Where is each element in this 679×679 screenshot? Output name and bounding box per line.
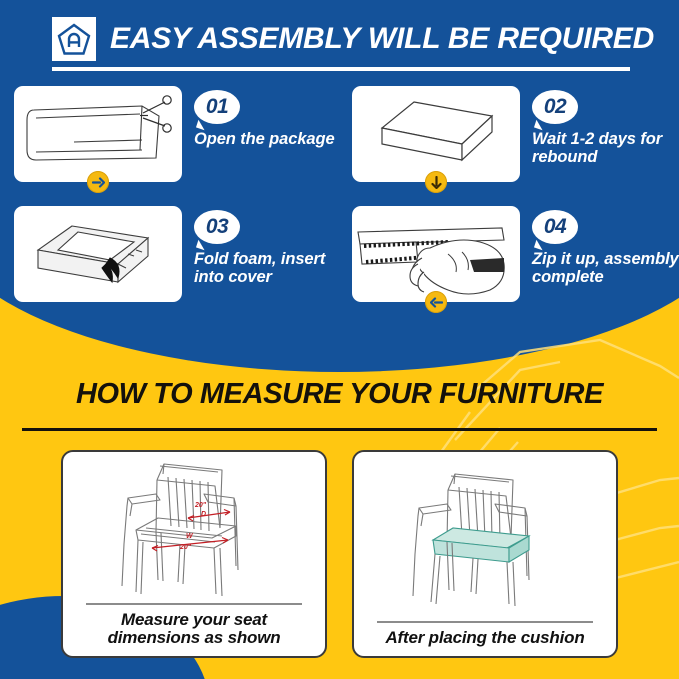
- step-card-03: 03 Fold foam, insert into cover: [14, 206, 344, 316]
- dim-depth-value: 20": [194, 502, 207, 509]
- step-number-badge: 03: [194, 210, 240, 244]
- dim-depth-axis: D: [201, 511, 206, 518]
- hand-closing-zipper-illustration: [352, 206, 520, 302]
- arrow-left-icon: [425, 291, 447, 313]
- step-card-04: 04 Zip it up, assembly complete: [352, 206, 679, 316]
- step-label: Wait 1-2 days for rebound: [532, 131, 679, 167]
- step-card-01: 01 Open the package: [14, 86, 344, 196]
- step-label: Open the package: [194, 131, 335, 149]
- step-text-04: 04 Zip it up, assembly complete: [532, 206, 679, 287]
- step-label: Zip it up, assembly complete: [532, 251, 679, 287]
- folded-foam-into-cover-illustration: [14, 206, 182, 302]
- arrow-right-icon: [87, 171, 109, 193]
- step-text-01: 01 Open the package: [194, 86, 335, 149]
- step-number-badge: 02: [532, 90, 578, 124]
- packaged-cushion-with-scissors-illustration: [14, 86, 182, 182]
- step-label: Fold foam, insert into cover: [194, 251, 344, 287]
- chair-with-seat-cushion-illustration: [354, 452, 616, 621]
- house-pentagon-logo-icon: [52, 17, 96, 61]
- assembly-steps-grid: 01 Open the package: [0, 86, 679, 316]
- measure-section-title: HOW TO MEASURE YOUR FURNITURE: [0, 378, 679, 411]
- infographic-canvas: EASY ASSEMBLY WILL BE REQUIRED: [0, 0, 679, 679]
- measure-panels: 20" D W 20" Measure your seat dimensions…: [0, 450, 679, 658]
- panel-caption: Measure your seat dimensions as shown: [63, 605, 325, 656]
- arrow-down-icon: [425, 171, 447, 193]
- page-title: EASY ASSEMBLY WILL BE REQUIRED: [110, 22, 654, 56]
- step-card-02: 02 Wait 1-2 days for rebound: [352, 86, 679, 196]
- step-number-badge: 04: [532, 210, 578, 244]
- panel-caption: After placing the cushion: [375, 623, 594, 656]
- step-text-03: 03 Fold foam, insert into cover: [194, 206, 344, 287]
- measure-section-divider: [22, 428, 657, 431]
- step-number-badge: 01: [194, 90, 240, 124]
- dim-width-value: 20": [179, 544, 192, 551]
- step-text-02: 02 Wait 1-2 days for rebound: [532, 86, 679, 167]
- measure-panel-dimensions: 20" D W 20" Measure your seat dimensions…: [61, 450, 327, 658]
- header-divider: [52, 67, 630, 71]
- chair-with-dimension-arrows-illustration: 20" D W 20": [63, 452, 325, 603]
- foam-slab-rebounding-illustration: [352, 86, 520, 182]
- measure-panel-cushion: After placing the cushion: [352, 450, 618, 658]
